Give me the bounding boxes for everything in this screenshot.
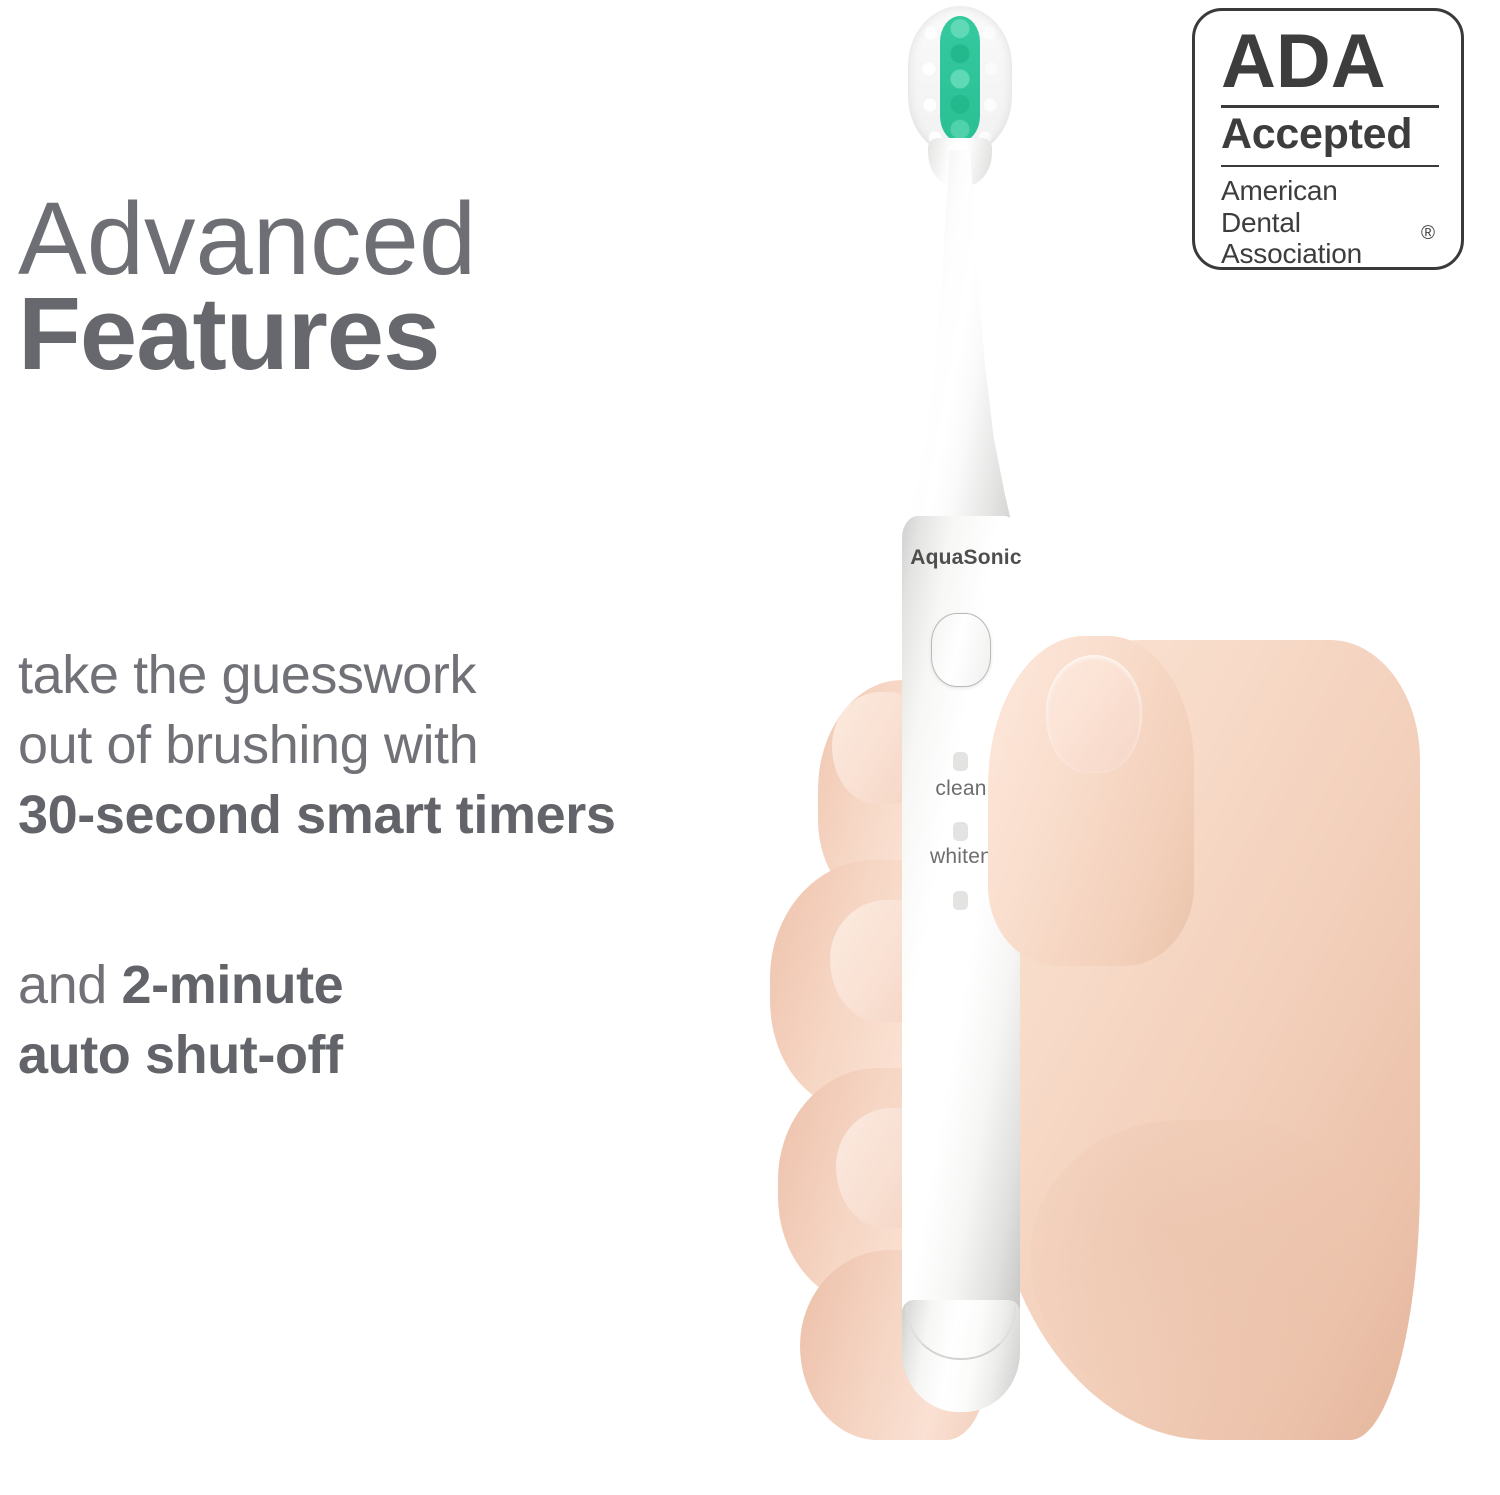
index-fingernail xyxy=(1046,655,1142,773)
hand-foreground-layer xyxy=(0,0,1500,1495)
